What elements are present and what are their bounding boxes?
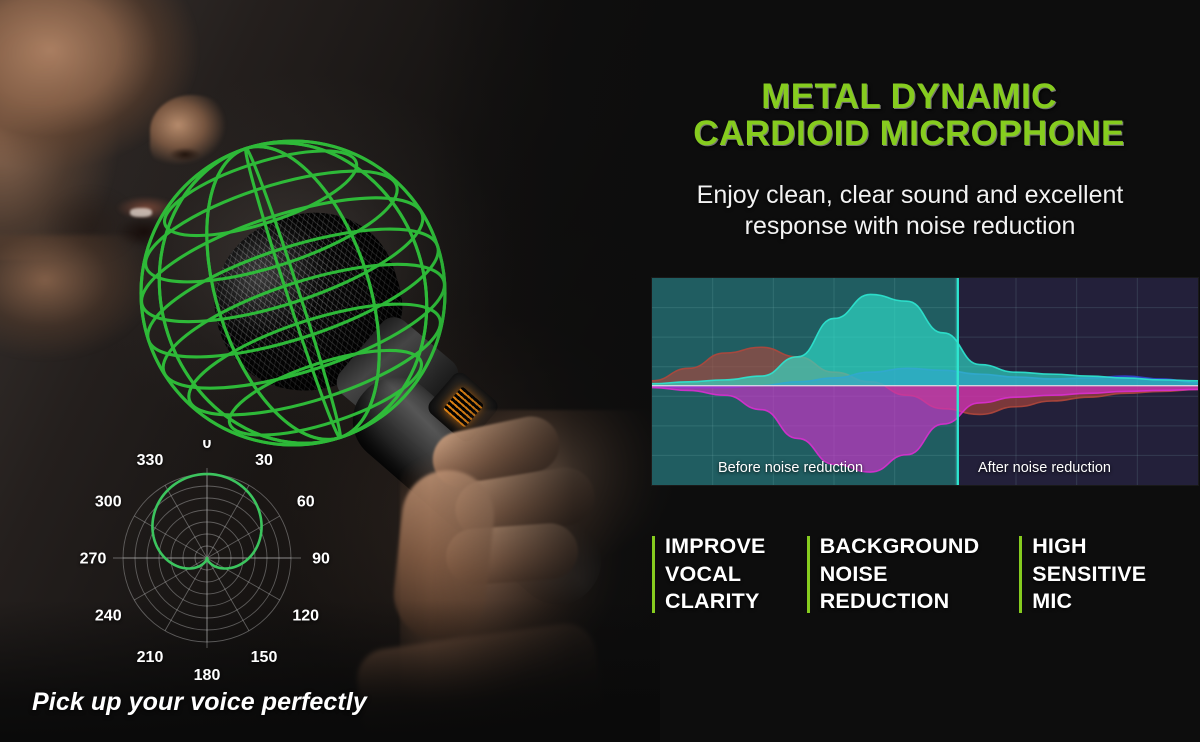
feature-list: IMPROVE VOCAL CLARITY BACKGROUND NOISE R…	[652, 533, 1200, 616]
noise-reduction-waveform-panel: Before noise reduction After noise reduc…	[652, 278, 1198, 485]
polar-tick-label: 0	[203, 440, 212, 452]
feature-item-high-sensitive-mic: HIGH SENSITIVE MIC	[1019, 533, 1200, 616]
polar-tick-label: 90	[312, 551, 330, 568]
feature-item-background-noise-reduction: BACKGROUND NOISE REDUCTION	[807, 533, 1020, 616]
headline-line-1: METAL DYNAMIC	[630, 78, 1188, 115]
subtitle-line-2: response with noise reduction	[630, 211, 1190, 242]
page-subtitle: Enjoy clean, clear sound and excellent r…	[630, 180, 1190, 241]
tagline-text: Pick up your voice perfectly	[32, 688, 367, 717]
cardioid-polar-chart: 0306090120150180210240270300330	[55, 440, 385, 680]
headline-line-2: CARDIOID MICROPHONE	[630, 115, 1188, 152]
polar-tick-label: 60	[297, 494, 315, 511]
polar-tick-label: 240	[95, 608, 122, 625]
subtitle-line-1: Enjoy clean, clear sound and excellent	[630, 180, 1190, 211]
polar-tick-label: 210	[137, 649, 164, 666]
info-column: METAL DYNAMIC CARDIOID MICROPHONE Enjoy …	[630, 0, 1200, 742]
polar-tick-label: 270	[80, 551, 107, 568]
feature-item-improve-vocal-clarity: IMPROVE VOCAL CLARITY	[652, 533, 807, 616]
polar-tick-label: 150	[251, 649, 278, 666]
product-marketing-banner: 0306090120150180210240270300330 Pick up …	[0, 0, 1200, 742]
polar-tick-label: 30	[255, 452, 273, 469]
polar-tick-label: 180	[194, 667, 221, 680]
polar-tick-label: 120	[292, 608, 319, 625]
waveform-label-after: After noise reduction	[978, 460, 1111, 476]
wireframe-sphere-icon	[128, 128, 458, 458]
polar-tick-label: 300	[95, 494, 122, 511]
waveform-label-before: Before noise reduction	[718, 460, 863, 476]
polar-tick-label: 330	[137, 452, 164, 469]
page-title: METAL DYNAMIC CARDIOID MICROPHONE	[630, 78, 1188, 153]
product-photo: 0306090120150180210240270300330 Pick up …	[0, 0, 660, 742]
